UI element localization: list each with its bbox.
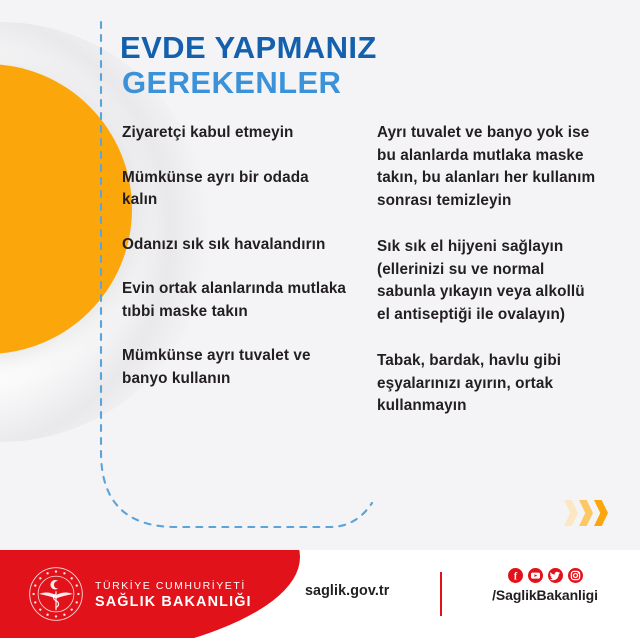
youtube-icon[interactable] [528,568,543,583]
page-title: EVDE YAPMANIZ GEREKENLER [120,30,377,100]
tip-item: Ziyaretçi kabul etmeyin [122,122,347,145]
chevron-right-icon [564,500,578,526]
poster-canvas: EVDE YAPMANIZ GEREKENLER Ziyaretçi kabul… [0,0,640,638]
facebook-icon[interactable]: f [508,568,523,583]
footer-divider [440,572,442,616]
ministry-line-2: SAĞLIK BAKANLIĞI [95,595,252,609]
chevron-right-icon [579,500,593,526]
social-handle[interactable]: /SaglikBakanligi [475,587,615,603]
social-block: f /SaglikBakanligi [475,568,615,603]
ministry-line-1: TÜRKİYE CUMHURİYETİ [95,581,252,592]
footer-bar: TÜRKİYE CUMHURİYETİ SAĞLIK BAKANLIĞI sag… [0,550,640,638]
instagram-icon[interactable] [568,568,583,583]
orange-circle-decoration [0,64,132,354]
tip-item: Mümkünse ayrı tuvalet ve banyo kullanın [122,345,347,390]
tip-item: Evin ortak alanlarında mutlaka tıbbi mas… [122,278,347,323]
ministry-name: TÜRKİYE CUMHURİYETİ SAĞLIK BAKANLIĞI [95,579,252,610]
tip-item: Odanızı sık sık havalandırın [122,234,347,257]
chevron-decoration [563,500,608,526]
tips-columns: Ziyaretçi kabul etmeyin Mümkünse ayrı bi… [122,122,602,442]
title-line-2: GEREKENLER [122,65,377,100]
title-line-1: EVDE YAPMANIZ [120,30,377,65]
chevron-right-icon [594,500,608,526]
tip-item: Sık sık el hijyeni sağlayın (ellerinizi … [377,236,602,326]
website-link[interactable]: saglik.gov.tr [305,583,389,599]
tip-item: Ayrı tuvalet ve banyo yok ise bu alanlar… [377,122,602,212]
ministry-emblem-icon [28,566,84,622]
tip-item: Tabak, bardak, havlu gibi eşyalarınızı a… [377,350,602,418]
social-icons-row: f [475,568,615,583]
svg-text:f: f [513,571,517,582]
tips-column-right: Ayrı tuvalet ve banyo yok ise bu alanlar… [377,122,602,442]
tips-column-left: Ziyaretçi kabul etmeyin Mümkünse ayrı bi… [122,122,347,442]
tip-item: Mümkünse ayrı bir odada kalın [122,167,347,212]
twitter-icon[interactable] [548,568,563,583]
ministry-brand: TÜRKİYE CUMHURİYETİ SAĞLIK BAKANLIĞI [28,566,252,622]
